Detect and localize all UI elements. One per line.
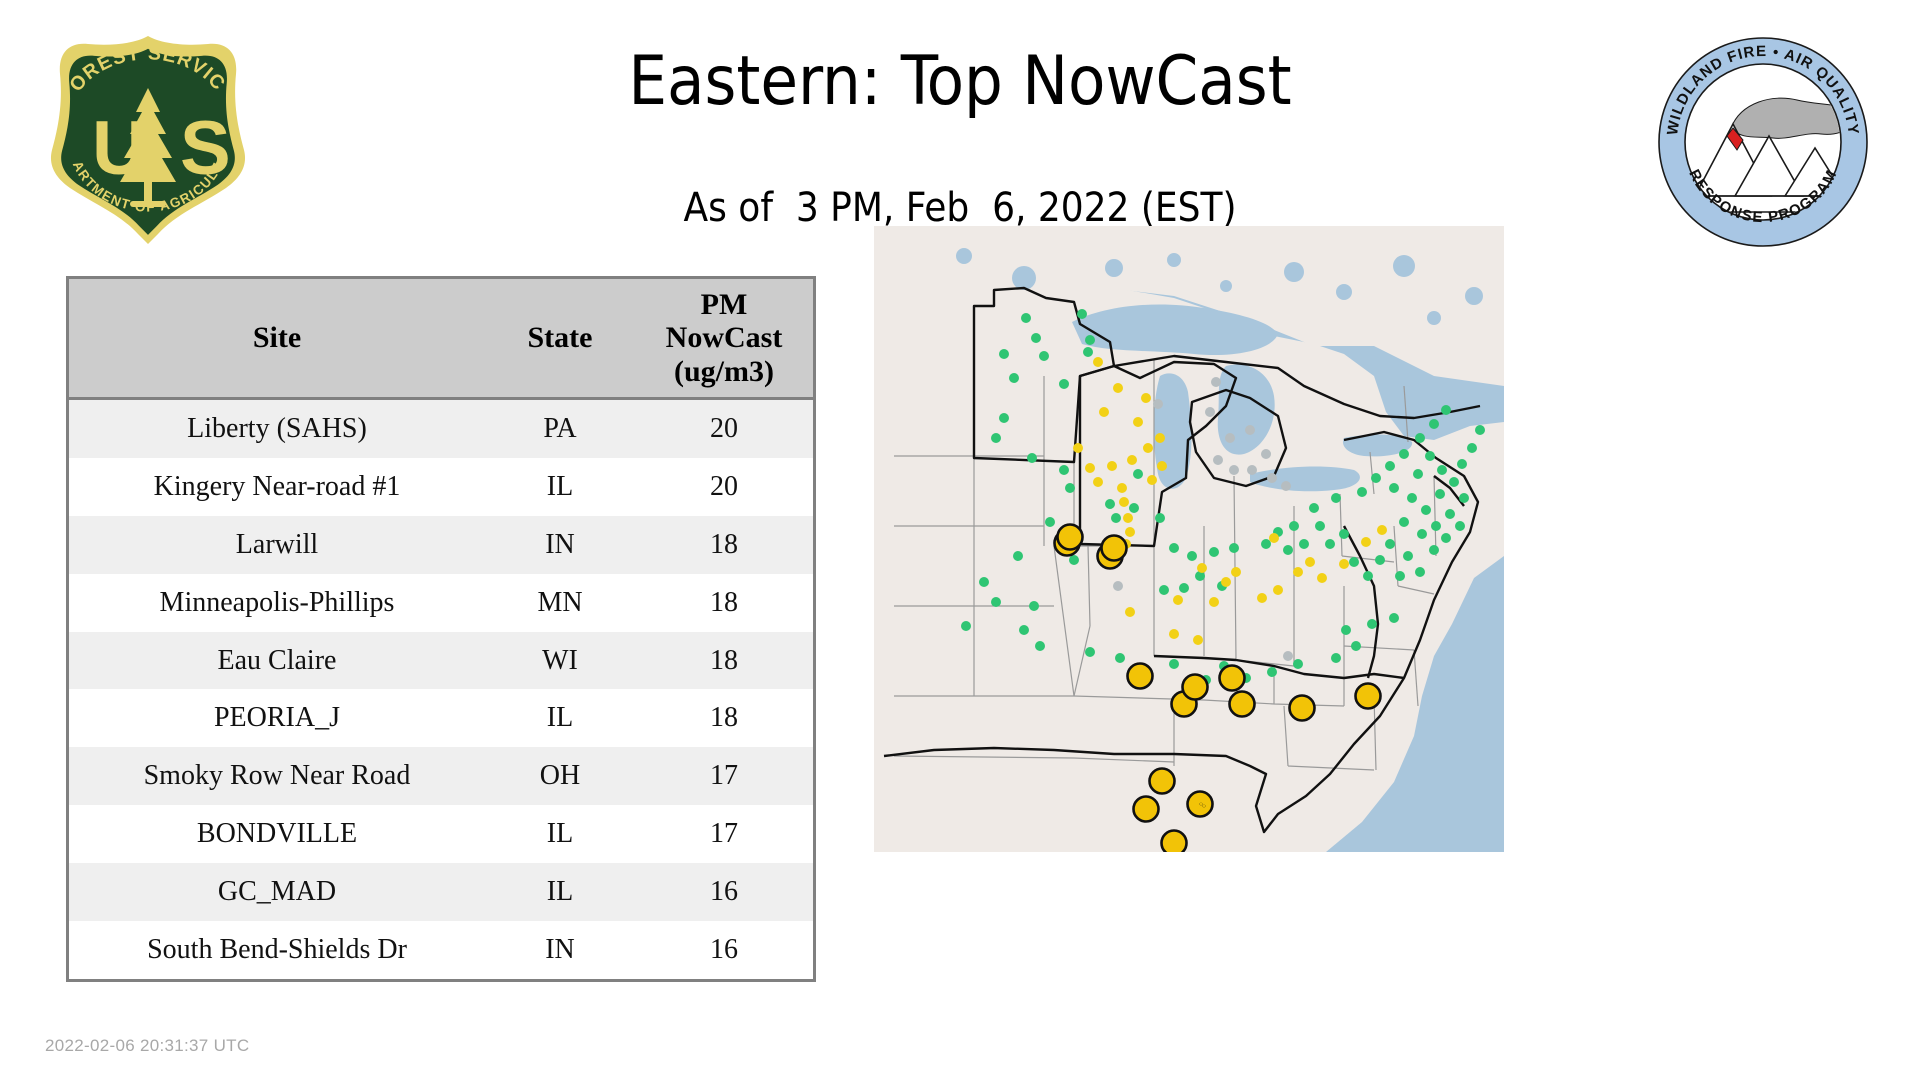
table-cell-state: IL bbox=[485, 689, 635, 747]
table-row: Smoky Row Near RoadOH17 bbox=[69, 747, 813, 805]
table-row: LarwillIN18 bbox=[69, 516, 813, 574]
table-cell-state: IL bbox=[485, 458, 635, 516]
table-cell-pm: 17 bbox=[635, 805, 813, 863]
table-header-row: Site State PM NowCast (ug/m3) bbox=[69, 279, 813, 399]
table-cell-pm: 17 bbox=[635, 747, 813, 805]
table-cell-site: South Bend-Shields Dr bbox=[69, 921, 485, 979]
table-row: BONDVILLEIL17 bbox=[69, 805, 813, 863]
table-cell-state: OH bbox=[485, 747, 635, 805]
table-cell-site: GC_MAD bbox=[69, 863, 485, 921]
table-cell-site: Minneapolis-Phillips bbox=[69, 574, 485, 632]
table-cell-state: WI bbox=[485, 632, 635, 690]
page-title: Eastern: Top NowCast bbox=[0, 48, 1920, 116]
table-cell-pm: 16 bbox=[635, 863, 813, 921]
table-row: GC_MADIL16 bbox=[69, 863, 813, 921]
table-row: Eau ClaireWI18 bbox=[69, 632, 813, 690]
table-cell-state: MN bbox=[485, 574, 635, 632]
column-header-site: Site bbox=[69, 279, 485, 399]
table-cell-site: Kingery Near-road #1 bbox=[69, 458, 485, 516]
table-cell-site: Larwill bbox=[69, 516, 485, 574]
table-cell-state: IN bbox=[485, 516, 635, 574]
pm-header-line2: NowCast bbox=[666, 321, 783, 354]
table-cell-pm: 18 bbox=[635, 574, 813, 632]
slide-root: FOREST SERVICE U S DEPARTMENT OF AGRICUL… bbox=[0, 0, 1920, 1080]
eastern-us-aqi-map[interactable]: Air Quality Index HazardousVery Unhealth… bbox=[874, 226, 1504, 852]
table-cell-site: Smoky Row Near Road bbox=[69, 747, 485, 805]
table-cell-pm: 20 bbox=[635, 399, 813, 458]
table-cell-site: PEORIA_J bbox=[69, 689, 485, 747]
table-cell-pm: 18 bbox=[635, 632, 813, 690]
table-row: Liberty (SAHS)PA20 bbox=[69, 399, 813, 458]
table-cell-pm: 16 bbox=[635, 921, 813, 979]
table-cell-site: Eau Claire bbox=[69, 632, 485, 690]
top-nowcast-table: Site State PM NowCast (ug/m3) Liberty (S… bbox=[66, 276, 816, 982]
table-row: Minneapolis-PhillipsMN18 bbox=[69, 574, 813, 632]
generated-timestamp: 2022-02-06 20:31:37 UTC bbox=[45, 1036, 249, 1056]
table-cell-state: IL bbox=[485, 805, 635, 863]
column-header-state: State bbox=[485, 279, 635, 399]
table-cell-site: BONDVILLE bbox=[69, 805, 485, 863]
table-cell-state: IL bbox=[485, 863, 635, 921]
page-subtitle: As of 3 PM, Feb 6, 2022 (EST) bbox=[0, 188, 1920, 228]
table-row: South Bend-Shields DrIN16 bbox=[69, 921, 813, 979]
table-cell-site: Liberty (SAHS) bbox=[69, 399, 485, 458]
table-row: Kingery Near-road #1IL20 bbox=[69, 458, 813, 516]
pm-header-line3: (ug/m3) bbox=[674, 355, 774, 388]
table-row: PEORIA_JIL18 bbox=[69, 689, 813, 747]
pm-header-line1: PM bbox=[701, 288, 748, 321]
column-header-pm-nowcast: PM NowCast (ug/m3) bbox=[635, 279, 813, 399]
table-cell-pm: 18 bbox=[635, 689, 813, 747]
table-cell-pm: 18 bbox=[635, 516, 813, 574]
table-cell-state: IN bbox=[485, 921, 635, 979]
table-cell-pm: 20 bbox=[635, 458, 813, 516]
table-cell-state: PA bbox=[485, 399, 635, 458]
